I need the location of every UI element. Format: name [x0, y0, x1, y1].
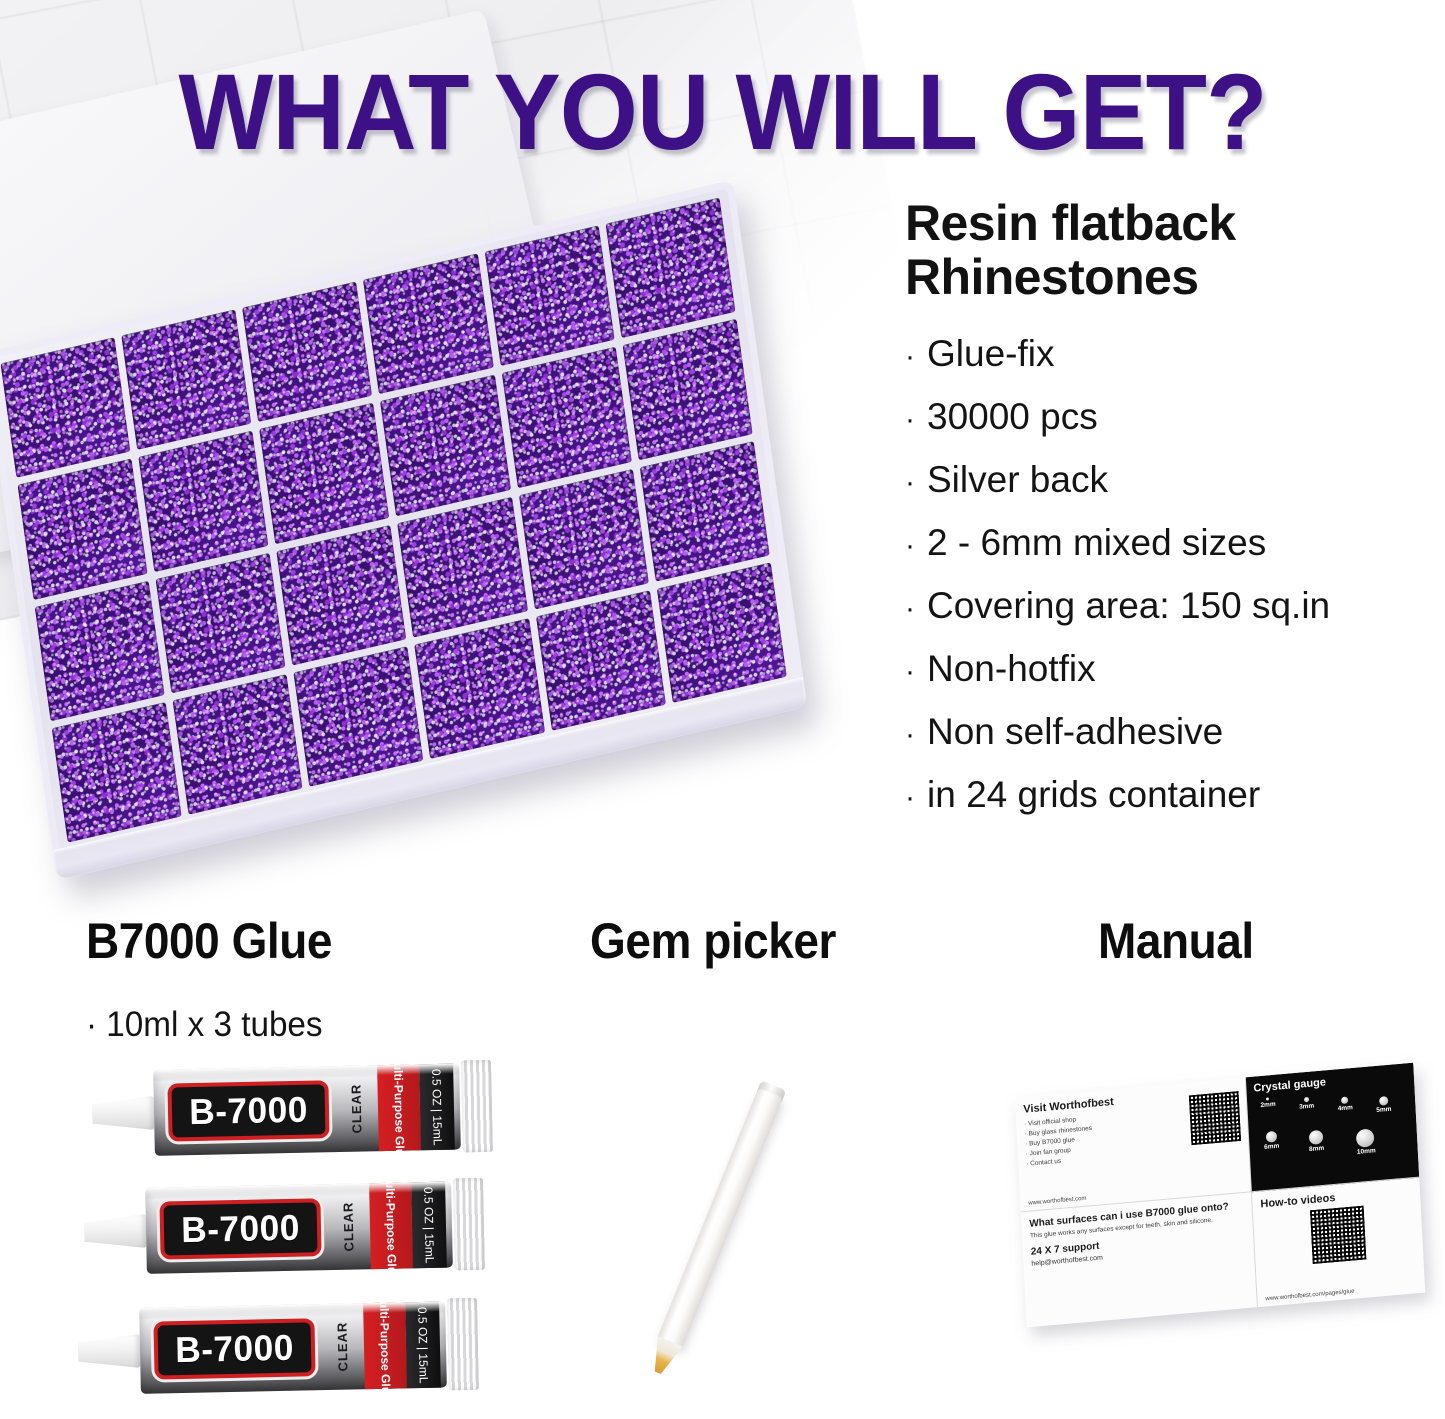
bullet-icon: ·	[905, 720, 915, 750]
gauge-item: 8mm	[1308, 1130, 1324, 1153]
glue-quantity-label: · 10ml x 3 tubes	[86, 1005, 323, 1045]
tube-brand-label: B-7000	[175, 1327, 295, 1371]
gauge-item: 10mm	[1356, 1128, 1376, 1156]
tube-clear-badge: CLEAR	[327, 1195, 368, 1258]
feature-label: Glue-fix	[927, 335, 1054, 372]
feature-item: · 2 - 6mm mixed sizes	[905, 511, 1435, 574]
gauge-stone-icon	[1309, 1130, 1324, 1145]
tube-type-label: Multi-Purpose Glue	[377, 1291, 393, 1401]
tube-volume-strip: 0.5 OZ | 15mL	[411, 1182, 447, 1269]
bullet-icon: ·	[905, 342, 915, 372]
feature-item: · Non self-adhesive	[905, 700, 1435, 763]
gauge-size-label: 2mm	[1260, 1101, 1275, 1109]
tube-brand-plate: B-7000	[167, 1080, 329, 1141]
grid-cell	[0, 337, 130, 478]
tube-type-label: Multi-Purpose Glue	[391, 1053, 407, 1163]
feature-item: · Covering area: 150 sq.in	[905, 574, 1435, 637]
qr-code-icon	[1188, 1090, 1243, 1146]
gauge-size-label: 3mm	[1299, 1102, 1314, 1110]
picker-section-heading: Gem picker	[590, 912, 836, 970]
tube-type-label: Multi-Purpose Glue	[383, 1171, 399, 1281]
manual-howto-quadrant: How-to videos www.worthofbest.com/pages/…	[1252, 1178, 1425, 1308]
glue-section-heading: B7000 Glue	[86, 912, 332, 970]
gauge-size-label: 5mm	[1376, 1106, 1391, 1114]
tube-volume-strip: 0.5 OZ | 15mL	[419, 1064, 455, 1151]
glue-tube: B-7000 CLEAR Multi-Purpose Glue 0.5 OZ |…	[91, 1058, 493, 1162]
manual-card-photo: Visit Worthofbest · Visit official shop …	[1015, 1063, 1426, 1328]
grid-cell	[121, 309, 251, 450]
glue-tube: B-7000 CLEAR Multi-Purpose Glue 0.5 OZ |…	[83, 1176, 485, 1280]
manual-section-heading: Manual	[1098, 912, 1254, 970]
rhinestone-container-photo	[0, 205, 870, 905]
grid-cell	[536, 590, 666, 731]
gauge-item: 2mm	[1260, 1097, 1276, 1109]
grid-cell	[173, 674, 303, 815]
gauge-size-label: 8mm	[1309, 1145, 1324, 1153]
tube-brand-label: B-7000	[181, 1207, 301, 1251]
bullet-icon: ·	[905, 783, 915, 813]
tube-brand-plate: B-7000	[159, 1198, 321, 1259]
tube-brand-label: B-7000	[189, 1089, 309, 1133]
feature-item: · Silver back	[905, 448, 1435, 511]
gauge-size-label: 6mm	[1264, 1143, 1279, 1151]
grid-cell	[657, 562, 787, 703]
tube-type-strip: Multi-Purpose Glue	[363, 1302, 407, 1389]
tube-clear-label: CLEAR	[334, 1322, 350, 1372]
grid-cell	[415, 618, 545, 759]
tube-body: B-7000 CLEAR Multi-Purpose Glue 0.5 OZ |…	[145, 1181, 453, 1273]
tube-type-strip: Multi-Purpose Glue	[369, 1182, 413, 1269]
feature-item: · Non-hotfix	[905, 637, 1435, 700]
manual-visit-url: www.worthofbest.com	[1028, 1196, 1086, 1207]
feature-label: Non self-adhesive	[927, 713, 1223, 750]
grid-cell	[397, 496, 527, 637]
grid-cell	[138, 431, 268, 572]
product-feature-panel: Resin flatback Rhinestones · Glue-fix · …	[905, 196, 1435, 826]
gauge-stone-icon	[1266, 1131, 1278, 1143]
tube-volume-label: 0.5 OZ | 15mL	[421, 1187, 437, 1264]
page-title: WHAT YOU WILL GET?	[51, 58, 1395, 166]
tube-clear-label: CLEAR	[340, 1202, 356, 1252]
grid-cell	[501, 347, 631, 488]
tube-crimp-icon	[453, 1178, 485, 1271]
product-title: Resin flatback Rhinestones	[905, 196, 1435, 304]
grid-cell	[259, 403, 389, 544]
bullet-icon: ·	[905, 657, 915, 687]
tube-nozzle-icon	[92, 1096, 155, 1131]
tube-nozzle-icon	[78, 1334, 141, 1369]
gauge-size-label: 10mm	[1357, 1147, 1376, 1156]
feature-label: Non-hotfix	[927, 650, 1096, 687]
tube-crimp-icon	[461, 1060, 493, 1153]
tube-brand-plate: B-7000	[153, 1318, 315, 1379]
gauge-stone-icon	[1379, 1096, 1388, 1106]
feature-label: Covering area: 150 sq.in	[927, 587, 1330, 624]
grid-cell	[156, 552, 286, 693]
grid-cell	[605, 197, 735, 338]
tube-volume-label: 0.5 OZ | 15mL	[429, 1069, 445, 1146]
tube-nozzle-icon	[84, 1214, 147, 1249]
grid-cell	[294, 646, 424, 787]
manual-visit-quadrant: Visit Worthofbest · Visit official shop …	[1015, 1077, 1252, 1212]
glue-tubes-photo: B-7000 CLEAR Multi-Purpose Glue 0.5 OZ |…	[78, 1062, 548, 1412]
gauge-item: 3mm	[1299, 1096, 1315, 1110]
feature-label: Silver back	[927, 461, 1108, 498]
grid-cell	[484, 225, 614, 366]
gauge-stone-icon	[1341, 1096, 1348, 1104]
feature-list: · Glue-fix · 30000 pcs · Silver back · 2…	[905, 322, 1435, 826]
bullet-icon: ·	[905, 405, 915, 435]
manual-howto-url: www.worthofbest.com/pages/glue	[1265, 1289, 1354, 1303]
tube-body: B-7000 CLEAR Multi-Purpose Glue 0.5 OZ |…	[153, 1063, 461, 1155]
feature-item: · in 24 grids container	[905, 763, 1435, 826]
tube-type-strip: Multi-Purpose Glue	[377, 1064, 421, 1151]
glue-tube: B-7000 CLEAR Multi-Purpose Glue 0.5 OZ |…	[77, 1296, 479, 1400]
picker-barrel	[656, 1088, 783, 1350]
grid-cell	[52, 702, 182, 843]
grid-cell	[518, 468, 648, 609]
gauge-size-label: 4mm	[1338, 1104, 1353, 1112]
feature-label: 30000 pcs	[927, 398, 1098, 435]
gauge-item: 4mm	[1337, 1096, 1353, 1112]
grid-cell	[17, 459, 147, 600]
gauge-stone-icon	[1356, 1128, 1375, 1148]
bullet-icon: ·	[905, 594, 915, 624]
bullet-icon: ·	[905, 468, 915, 498]
tube-clear-badge: CLEAR	[335, 1077, 376, 1140]
tube-clear-badge: CLEAR	[321, 1315, 362, 1378]
gauge-stone-icon	[1304, 1097, 1309, 1102]
gauge-item: 6mm	[1263, 1131, 1279, 1151]
tube-body: B-7000 CLEAR Multi-Purpose Glue 0.5 OZ |…	[139, 1301, 447, 1393]
gauge-item: 5mm	[1376, 1096, 1392, 1114]
gauge-stone-icon	[1266, 1097, 1269, 1100]
feature-label: in 24 grids container	[927, 776, 1260, 813]
bullet-icon: ·	[905, 531, 915, 561]
feature-item: · Glue-fix	[905, 322, 1435, 385]
gem-picker-photo	[640, 1060, 801, 1381]
tube-clear-label: CLEAR	[348, 1084, 364, 1134]
feature-item: · 30000 pcs	[905, 385, 1435, 448]
grid-cell	[363, 253, 493, 394]
grid-cell	[277, 524, 407, 665]
tube-volume-strip: 0.5 OZ | 15mL	[405, 1302, 441, 1389]
qr-code-icon	[1309, 1204, 1368, 1265]
grid-cell	[35, 580, 165, 721]
tube-volume-label: 0.5 OZ | 15mL	[415, 1307, 431, 1384]
tube-crimp-icon	[447, 1298, 479, 1391]
grid-cell	[242, 281, 372, 422]
manual-faq-quadrant: What surfaces can i use B7000 glue onto?…	[1021, 1192, 1258, 1327]
grid-cell	[622, 319, 752, 460]
grid-cell	[639, 441, 769, 582]
feature-label: 2 - 6mm mixed sizes	[927, 524, 1266, 561]
grid-cell	[380, 375, 510, 516]
manual-crystal-gauge-quadrant: Crystal gauge 2mm 3mm 4mm 5mm 6mm	[1246, 1063, 1419, 1193]
